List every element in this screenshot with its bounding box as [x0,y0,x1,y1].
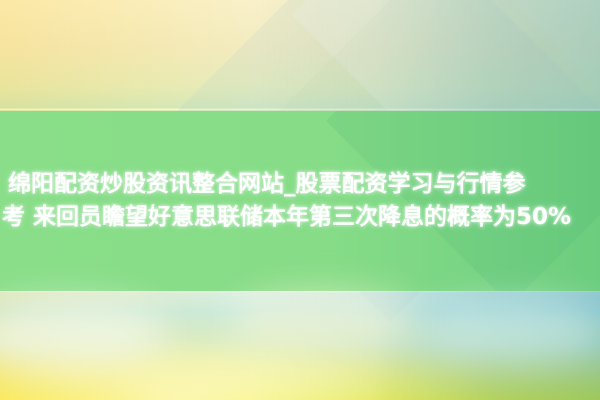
promotional-banner-image: 绵阳配资炒股资讯整合网站_股票配资学习与行情参 考 来回员瞻望好意思联储本年第三… [0,0,600,400]
headline-line-1: 绵阳配资炒股资讯整合网站_股票配资学习与行情参 [8,168,600,201]
banner-headline: 绵阳配资炒股资讯整合网站_股票配资学习与行情参 考 来回员瞻望好意思联储本年第三… [8,168,600,234]
headline-line-2: 考 来回员瞻望好意思联储本年第三次降息的概率为50% [2,201,600,234]
